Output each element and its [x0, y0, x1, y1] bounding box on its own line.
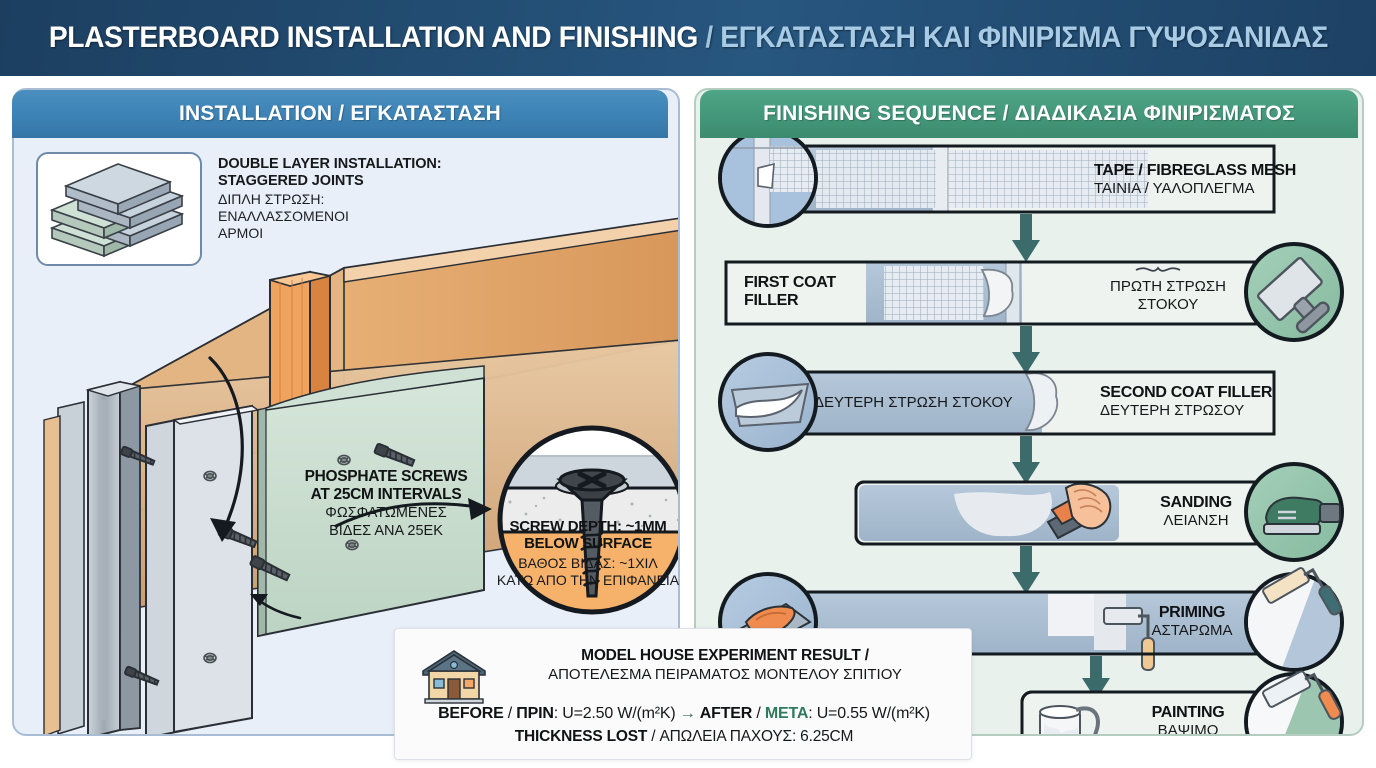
after-value: U=0.55 W/(m²K) — [817, 705, 930, 722]
step-6-en: PAINTING — [1126, 704, 1250, 722]
page-title-gr: ΕΓΚΑΤΑΣΤΑΣΗ ΚΑΙ ΦΙΝΙΡΙΣΜΑ ΓΥΨΟΣΑΝΙΔΑΣ — [720, 21, 1328, 54]
screws-en-line2: AT 25CM INTERVALS — [286, 486, 486, 504]
screws-en-line1: PHOSPHATE SCREWS — [286, 468, 486, 486]
screws-callout-en: PHOSPHATE SCREWS AT 25CM INTERVALS — [286, 468, 486, 503]
after-label-en: AFTER — [700, 705, 752, 722]
step-4-row — [856, 464, 1342, 594]
screws-gr-line2: ΒΙΔΕΣ ΑΝΑ 25ΕΚ — [286, 523, 486, 540]
legend-title-line1: DOUBLE LAYER INSTALLATION: — [218, 156, 478, 173]
step-4-label: SANDING ΛΕΙΑΝΣΗ — [1138, 494, 1254, 530]
legend-title: DOUBLE LAYER INSTALLATION: STAGGERED JOI… — [218, 156, 478, 190]
before-value: U=2.50 W/(m²K) — [562, 705, 675, 722]
screw-depth-callout: SCREW DEPTH: ~1MM BELOW SURFACE ΒΑΘΟΣ ΒΙ… — [482, 518, 694, 588]
thickness-value: 6.25CM — [800, 728, 853, 745]
double-layer-legend-box — [36, 152, 202, 266]
phosphate-screws-callout: PHOSPHATE SCREWS AT 25CM INTERVALS ΦΩΣΦΑ… — [286, 468, 486, 540]
badge-step-5-right — [1246, 560, 1343, 670]
double-layer-legend-text: DOUBLE LAYER INSTALLATION: STAGGERED JOI… — [218, 156, 478, 242]
badge-step-4 — [1246, 464, 1342, 560]
step-1-gr: ΤΑΙΝΙΑ / ΥΑΛΟΠΛΕΓΜΑ — [1094, 180, 1296, 198]
step-3-en: SECOND COAT FILLER — [1100, 384, 1272, 402]
step-2-greek-label: ΠΡΩΤΗ ΣΤΡΩΣΗ ΣΤΟΚΟΥ — [1098, 278, 1238, 314]
step-5-gr: ΑΣΤΑΡΩΜΑ — [1132, 622, 1252, 640]
page-title: PLASTERBOARD INSTALLATION AND FINISHING … — [48, 21, 1327, 55]
step-3-gr: ΔΕΥΤΕΡΗ ΣΤΡΩΣΟΥ — [1100, 402, 1272, 420]
model-house-result-box: MODEL HOUSE EXPERIMENT RESULT / ΑΠΟΤΕΛΕΣ… — [394, 628, 972, 760]
step-1-label: TAPE / FIBREGLASS MESH ΤΑΙΝΙΑ / ΥΑΛΟΠΛΕΓ… — [1094, 162, 1296, 198]
step-3-inline-gr: ΔΕΥΤΕΡΗ ΣΤΡΩΣΗ ΣΤΟΚΟΥ — [814, 394, 1013, 412]
finishing-panel-header: FINISHING SEQUENCE / ΔΙΑΔΙΚΑΣΙΑ ΦΙΝΙΡΙΣΜ… — [700, 90, 1358, 138]
legend-greek-line3: ΑΡΜΟΙ — [218, 225, 478, 242]
step-4-en: SANDING — [1138, 494, 1254, 512]
board-screw-head — [338, 455, 350, 464]
result-thickness: THICKNESS LOST / ΑΠΩΛΕΙΑ ΠΑΧΟΥΣ: 6.25CM — [405, 728, 963, 746]
step-2-label: FIRST COAT FILLER — [744, 274, 836, 311]
badge-step-1 — [718, 130, 820, 226]
after-label-gr: ΜΕΤΑ — [765, 705, 808, 722]
before-label-en: BEFORE — [438, 705, 503, 722]
depth-en-line1: SCREW DEPTH: ~1MM — [482, 518, 694, 535]
step-5-en: PRIMING — [1132, 604, 1252, 622]
stacked-boards-icon — [38, 154, 200, 264]
step-2-gr-line1: ΠΡΩΤΗ ΣΤΡΩΣΗ — [1098, 278, 1238, 296]
step-5-label: PRIMING ΑΣΤΑΡΩΜΑ — [1132, 604, 1252, 640]
depth-callout-gr: ΒΑΘΟΣ ΒΙΔΑΣ: ~1ΧΙΛ ΚΑΤΩ ΑΠΟ ΤΗΝ ΕΠΙΦΑΝΕΙ… — [482, 555, 694, 589]
result-title-gr: ΑΠΟΤΕΛΕΣΜΑ ΠΕΙΡΑΜΑΤΟΣ ΜΟΝΤΕΛΟΥ ΣΠΙΤΙΟΥ — [499, 666, 951, 683]
page-title-separator: / — [697, 21, 719, 54]
step-3-label: SECOND COAT FILLER ΔΕΥΤΕΡΗ ΣΤΡΩΣΟΥ — [1100, 384, 1272, 420]
step-2-gr-line2: ΣΤΟΚΟΥ — [1098, 296, 1238, 314]
legend-greek-line2: ΕΝΑΛΛΑΣΣΟΜΕΝΟΙ — [218, 208, 478, 225]
page-title-en: PLASTERBOARD INSTALLATION AND FINISHING — [48, 21, 697, 54]
step-2-en-line1: FIRST COAT — [744, 274, 836, 292]
screws-gr-line1: ΦΩΣΦΑΤΩΜΕΝΕΣ — [286, 505, 486, 522]
screws-callout-gr: ΦΩΣΦΑΤΩΜΕΝΕΣ ΒΙΔΕΣ ΑΝΑ 25ΕΚ — [286, 505, 486, 540]
badge-step-2 — [1246, 244, 1342, 340]
result-arrow-icon: → — [680, 705, 696, 722]
step-1-en: TAPE / FIBREGLASS MESH — [1094, 162, 1296, 180]
installation-panel-title: INSTALLATION / ΕΓΚΑΤΑΣΤΑΣΗ — [179, 102, 501, 126]
depth-en-line2: BELOW SURFACE — [482, 535, 694, 552]
depth-gr-line1: ΒΑΘΟΣ ΒΙΔΑΣ: ~1ΧΙΛ — [482, 555, 694, 572]
badge-step-3 — [720, 354, 816, 450]
finishing-panel-title: FINISHING SEQUENCE / ΔΙΑΔΙΚΑΣΙΑ ΦΙΝΙΡΙΣΜ… — [763, 102, 1295, 126]
house-icon — [417, 645, 491, 707]
legend-greek: ΔΙΠΛΗ ΣΤΡΩΣΗ: ΕΝΑΛΛΑΣΣΟΜΕΝΟΙ ΑΡΜΟΙ — [218, 191, 478, 242]
legend-greek-line1: ΔΙΠΛΗ ΣΤΡΩΣΗ: — [218, 191, 478, 208]
page-header: PLASTERBOARD INSTALLATION AND FINISHING … — [0, 0, 1376, 76]
result-u-values: BEFORE / ΠΡΙΝ: U=2.50 W/(m²K) → AFTER / … — [405, 703, 963, 725]
badge-step-6 — [1246, 664, 1342, 736]
step-6-gr: ΒΑΨΙΜΟ — [1126, 722, 1250, 736]
step-4-gr: ΛΕΙΑΝΣΗ — [1138, 512, 1254, 530]
depth-gr-line2: ΚΑΤΩ ΑΠΟ ΤΗΝ ΕΠΙΦΑΝΕΙΑ — [482, 572, 694, 589]
installation-panel-header: INSTALLATION / ΕΓΚΑΤΑΣΤΑΣΗ — [12, 90, 668, 138]
before-label-gr: ΠΡΙΝ — [516, 705, 553, 722]
result-title-en: MODEL HOUSE EXPERIMENT RESULT / — [499, 647, 951, 665]
step-2-en-line2: FILLER — [744, 292, 836, 310]
thickness-label-gr: ΑΠΩΛΕΙΑ ΠΑΧΟΥΣ — [659, 728, 791, 745]
legend-title-line2: STAGGERED JOINTS — [218, 173, 478, 190]
depth-callout-en: SCREW DEPTH: ~1MM BELOW SURFACE — [482, 518, 694, 553]
step-3-inline-greek: ΔΕΥΤΕΡΗ ΣΤΡΩΣΗ ΣΤΟΚΟΥ — [814, 394, 1013, 412]
result-values: BEFORE / ΠΡΙΝ: U=2.50 W/(m²K) → AFTER / … — [405, 703, 963, 746]
step-6-label: PAINTING ΒΑΨΙΜΟ — [1126, 704, 1250, 736]
thickness-label-en: THICKNESS LOST — [515, 728, 647, 745]
result-heading: MODEL HOUSE EXPERIMENT RESULT / ΑΠΟΤΕΛΕΣ… — [499, 647, 951, 683]
